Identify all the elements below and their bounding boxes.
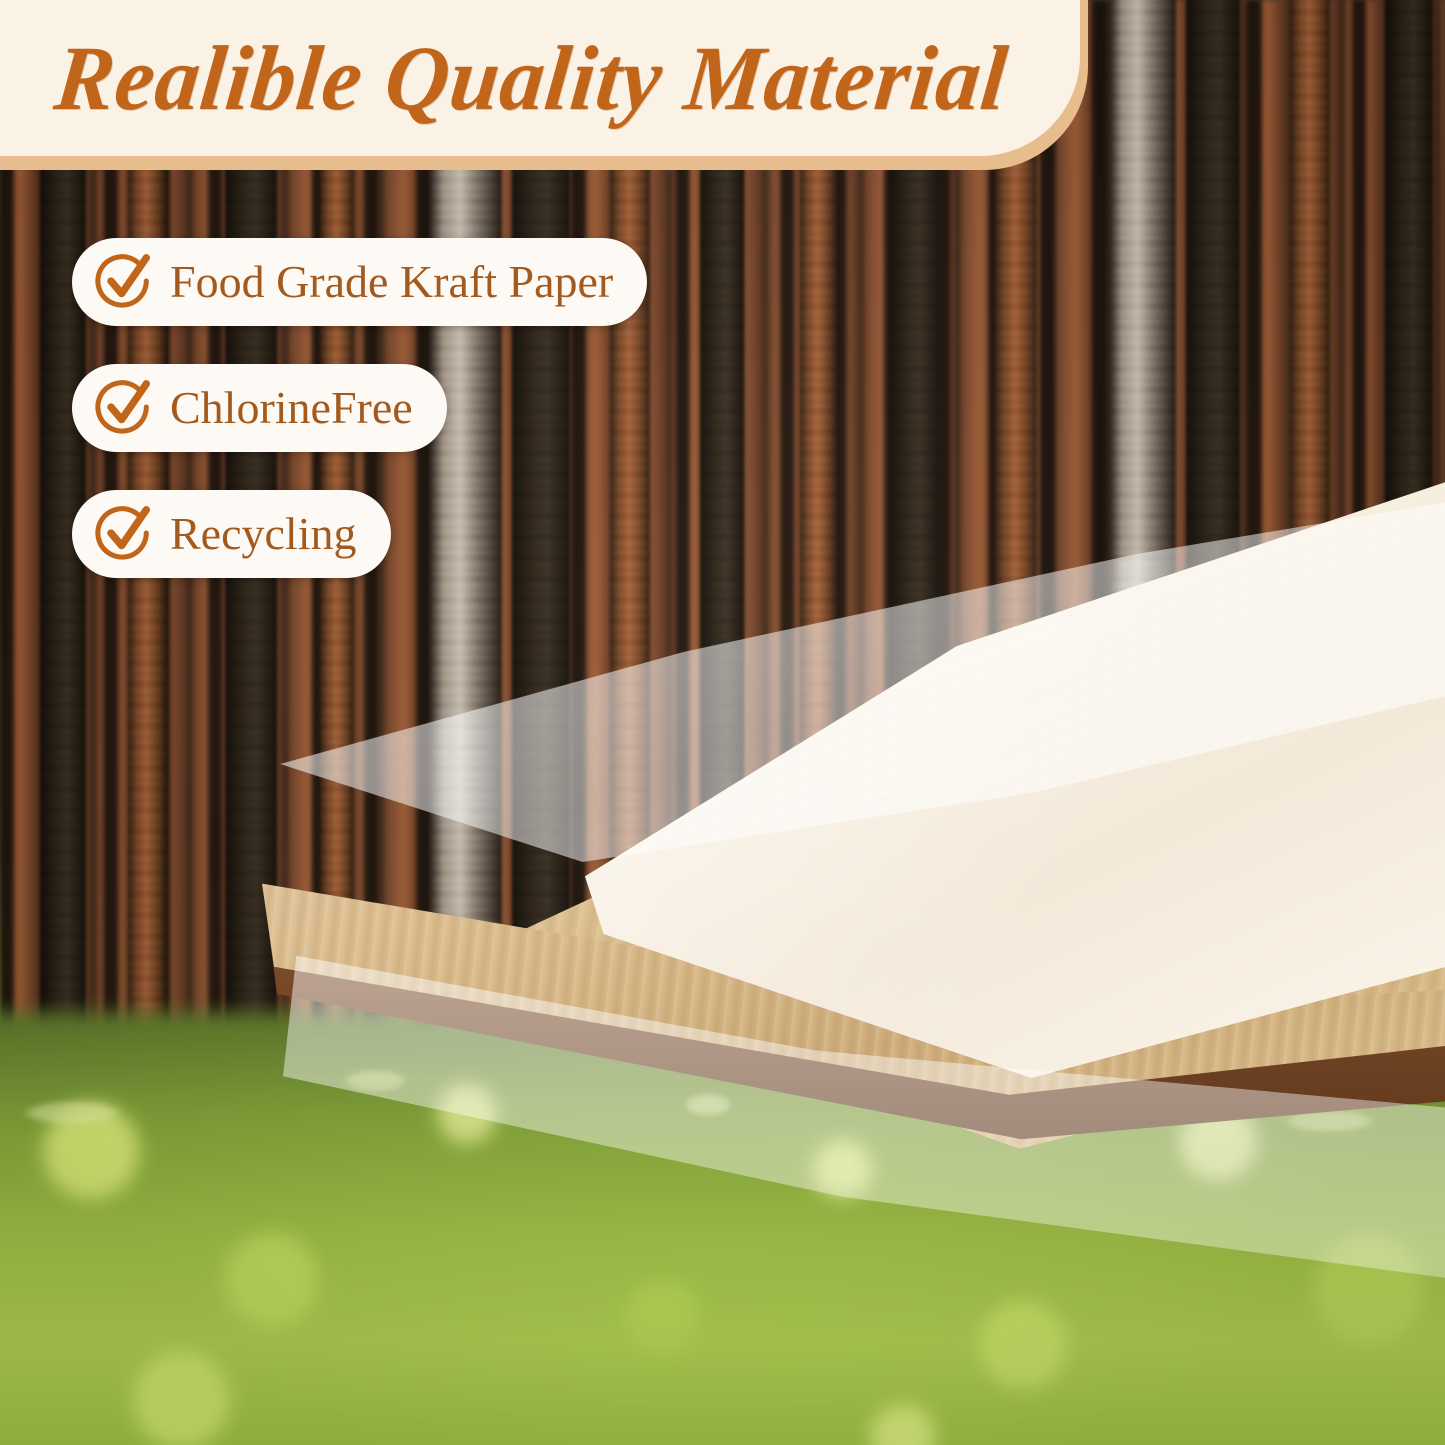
feature-pill-chlorine-free[interactable]: ChlorineFree [72, 364, 447, 452]
feature-pill-recycling[interactable]: Recycling [72, 490, 391, 578]
feature-pill-food-grade-kraft-paper[interactable]: Food Grade Kraft Paper [72, 238, 647, 326]
page-title: Realible Quality Material [51, 32, 1012, 124]
feature-pill-label: ChlorineFree [170, 384, 413, 432]
product-feature-image: Realible Quality Material Food Grade Kra… [0, 0, 1445, 1445]
feature-pill-label: Food Grade Kraft Paper [170, 258, 613, 306]
check-circle-icon [94, 377, 156, 439]
header-banner: Realible Quality Material [0, 0, 1080, 156]
check-circle-icon [94, 503, 156, 565]
feature-pill-label: Recycling [170, 510, 357, 558]
feature-list: Food Grade Kraft Paper ChlorineFree Recy… [72, 238, 647, 578]
check-circle-icon [94, 251, 156, 313]
